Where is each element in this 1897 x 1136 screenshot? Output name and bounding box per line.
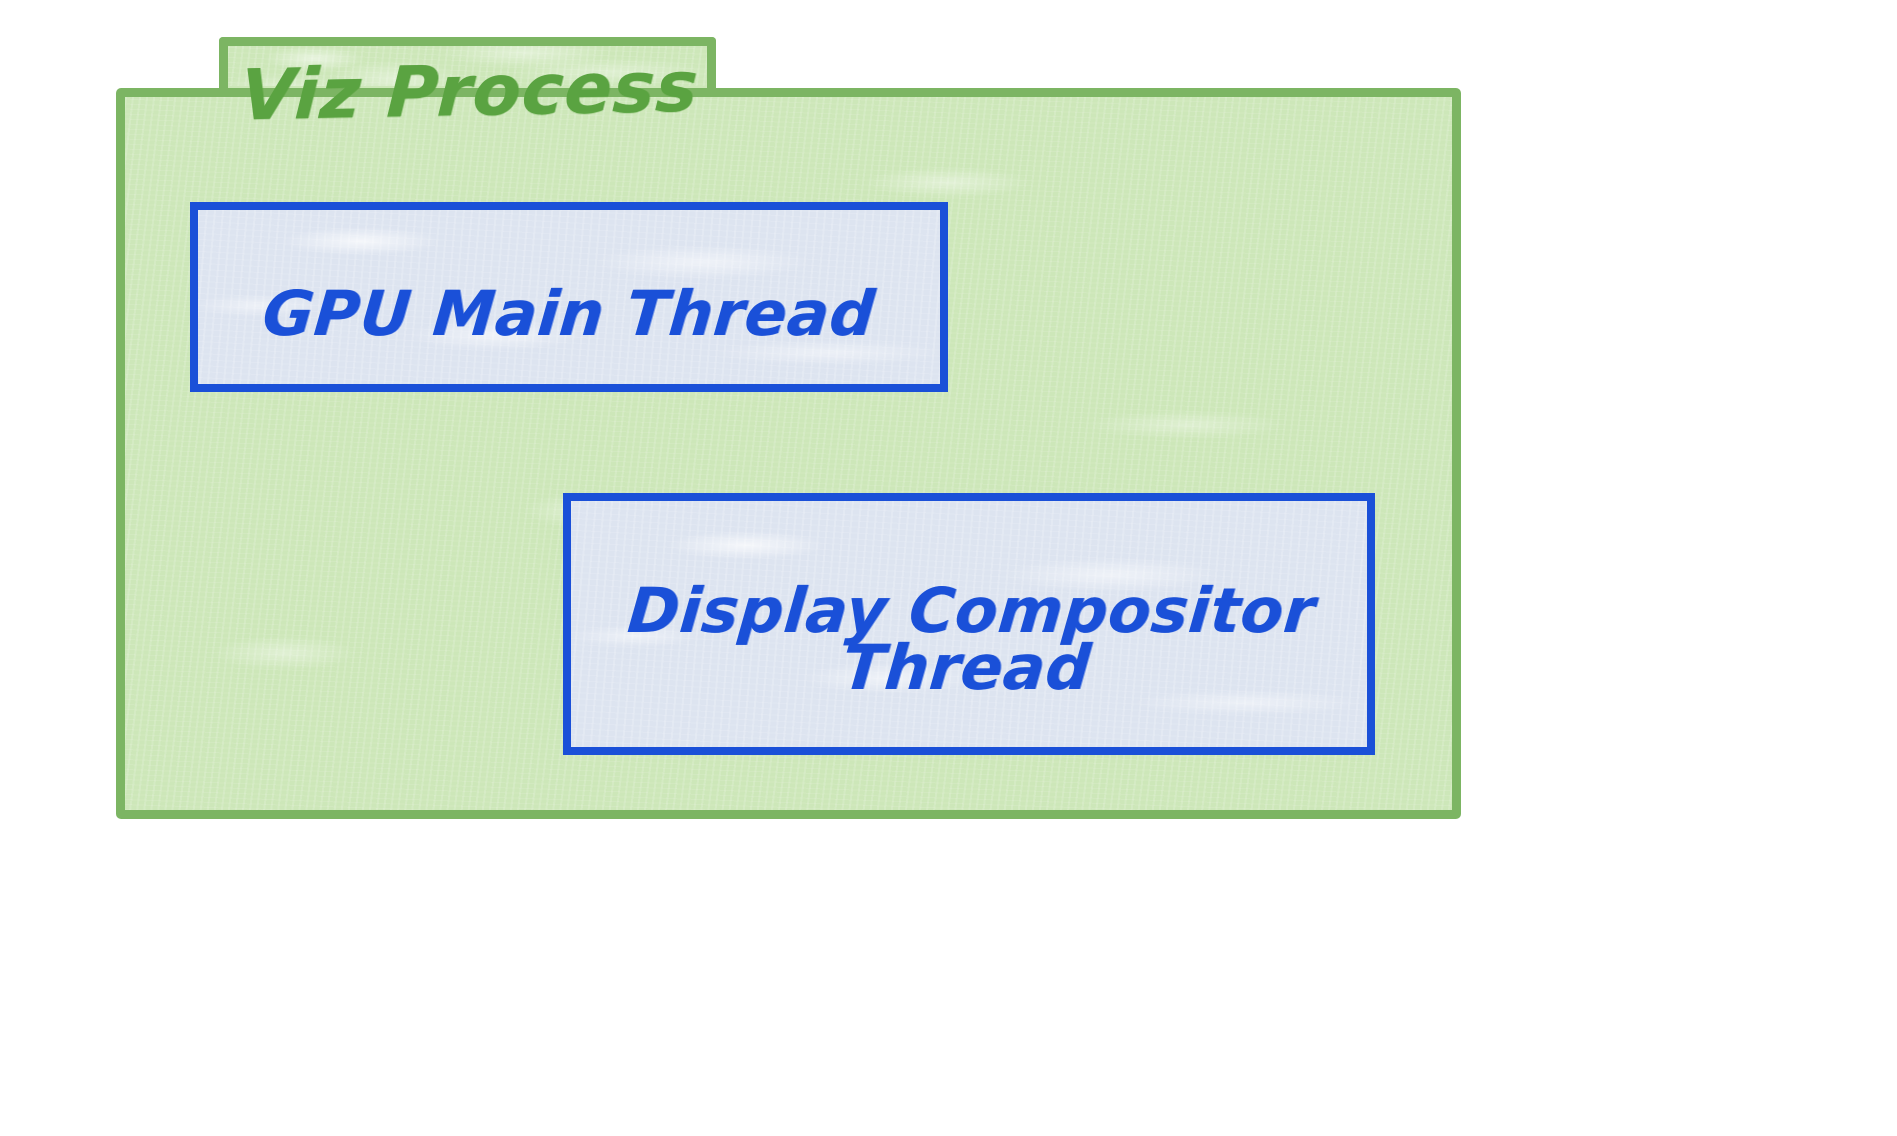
display-compositor-thread-box[interactable]: Display Compositor Thread xyxy=(563,493,1375,755)
diagram-canvas: GPU Main Thread Display Compositor Threa… xyxy=(0,0,1897,1136)
gpu-main-thread-box[interactable]: GPU Main Thread xyxy=(190,202,948,392)
gpu-main-thread-label: GPU Main Thread xyxy=(261,283,878,345)
viz-process-container[interactable]: GPU Main Thread Display Compositor Threa… xyxy=(116,88,1461,819)
viz-process-title: Viz Process xyxy=(239,52,700,131)
display-compositor-thread-label: Display Compositor Thread xyxy=(604,582,1334,696)
